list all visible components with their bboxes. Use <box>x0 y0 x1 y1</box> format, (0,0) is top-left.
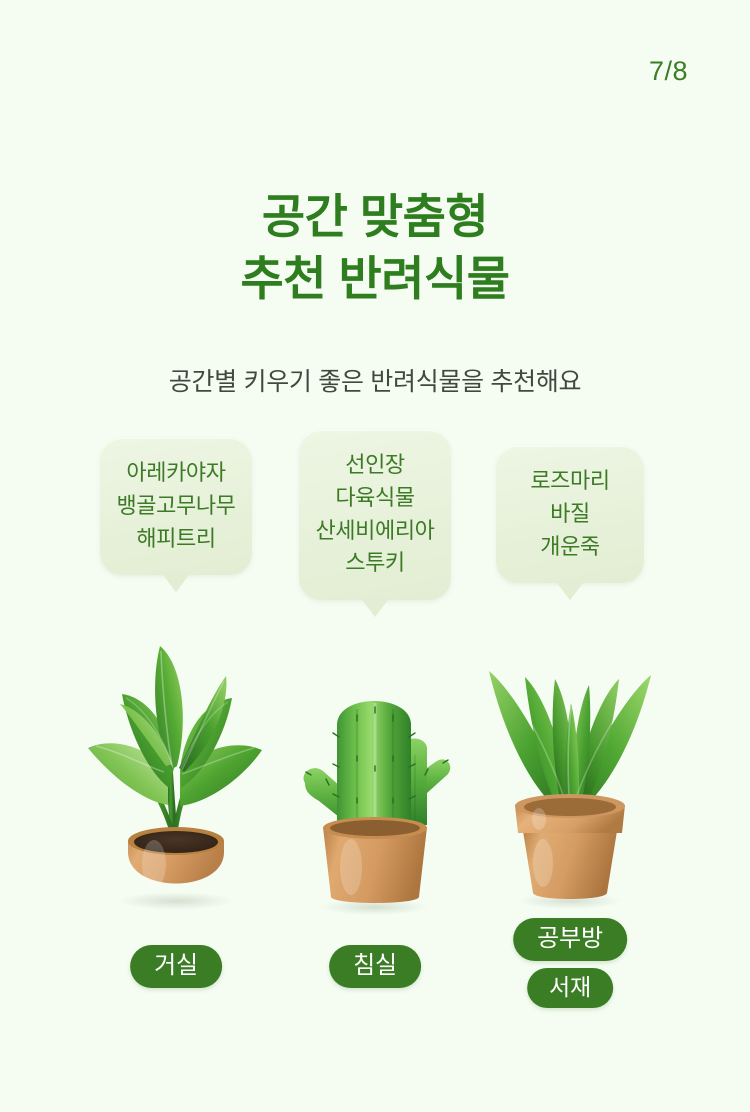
plant-name: 다육식물 <box>315 482 435 515</box>
plant-name: 뱅골고무나무 <box>116 490 236 523</box>
page-subtitle: 공간별 키우기 좋은 반려식물을 추천해요 <box>0 362 750 398</box>
room-label-pill[interactable]: 공부방 <box>513 918 627 961</box>
plant-name: 해피트리 <box>116 523 236 556</box>
cactus-plant-illustration <box>285 675 465 915</box>
plant-name: 아레카야자 <box>116 457 236 490</box>
bubble-tail <box>161 572 191 592</box>
room-labels-bedroom: 침실 <box>329 945 421 988</box>
plant-list-bubble-bedroom: 선인장 다육식물 산세비에리아 스투키 <box>299 430 451 600</box>
snake-plant-illustration <box>475 635 665 910</box>
plant-list-bubble-study-room: 로즈마리 바질 개운죽 <box>496 446 644 583</box>
page-title: 공간 맞춤형 추천 반려식물 <box>0 186 750 310</box>
plant-name: 로즈마리 <box>512 465 628 498</box>
page-indicator: 7/8 <box>649 56 688 87</box>
plant-name: 스투키 <box>315 547 435 580</box>
plant-name: 개운죽 <box>512 531 628 564</box>
column-living-room: 아레카야자 뱅골고무나무 해피트리 <box>76 430 276 1070</box>
column-bedroom: 선인장 다육식물 산세비에리아 스투키 <box>275 430 475 1070</box>
bubble-tail <box>360 597 390 617</box>
room-label-pill[interactable]: 서재 <box>527 968 613 1008</box>
plant-name: 선인장 <box>315 449 435 482</box>
recommendation-columns: 아레카야자 뱅골고무나무 해피트리 <box>0 430 750 1070</box>
plant-name: 산세비에리아 <box>315 515 435 548</box>
room-labels-study-room: 공부방 서재 <box>513 918 627 1008</box>
title-line-2: 추천 반려식물 <box>0 248 750 310</box>
plant-list-bubble-living-room: 아레카야자 뱅골고무나무 해피트리 <box>100 438 252 575</box>
infographic-page: 7/8 공간 맞춤형 추천 반려식물 공간별 키우기 좋은 반려식물을 추천해요… <box>0 0 750 1112</box>
title-line-1: 공간 맞춤형 <box>0 186 750 248</box>
room-label-pill[interactable]: 침실 <box>329 945 421 988</box>
bubble-tail <box>555 580 585 600</box>
column-study-room: 로즈마리 바질 개운죽 <box>470 430 670 1070</box>
leafy-ficus-plant-illustration <box>76 620 276 910</box>
plant-name: 바질 <box>512 498 628 531</box>
room-label-pill[interactable]: 거실 <box>130 945 222 988</box>
room-labels-living-room: 거실 <box>130 945 222 988</box>
